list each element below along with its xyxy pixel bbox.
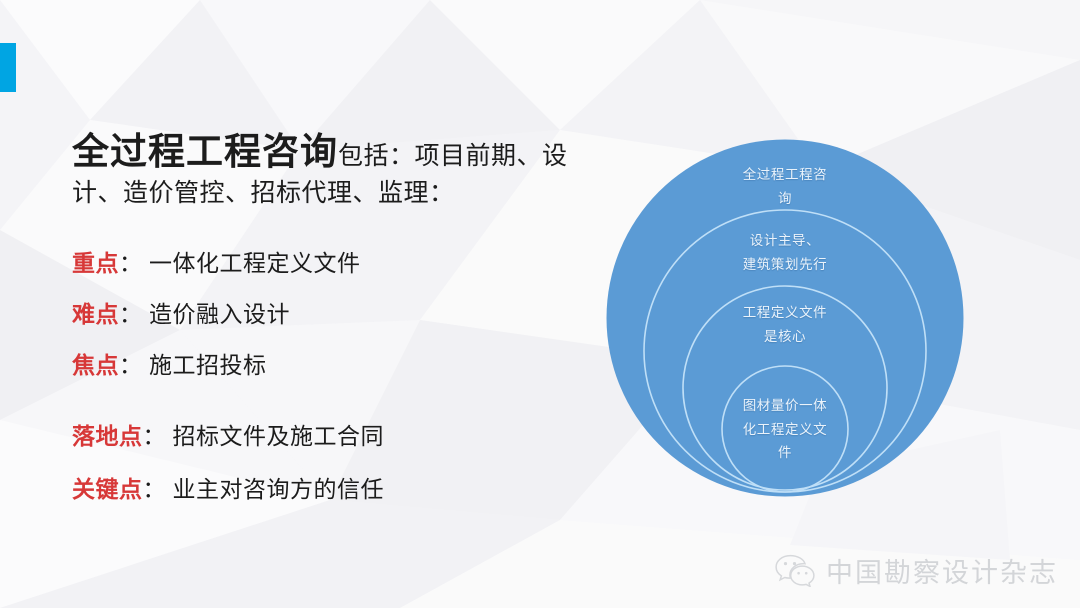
list-item: 关键点 ： 业主对咨询方的信任 — [72, 478, 572, 501]
bullet-colon: ： — [119, 303, 142, 326]
nested-circles-svg — [606, 139, 964, 497]
watermark-label: 中国勘察设计杂志 — [826, 551, 1058, 590]
nested-circles-diagram: 全过程工程咨询 设计主导、建筑策划先行 工程定义文件是核心 图材量价一体化工程定… — [606, 139, 964, 497]
bullet-colon: ： — [119, 354, 142, 377]
slide-canvas: 全过程工程咨询包括：项目前期、设计、造价管控、招标代理、监理： 重点 ： 一体化… — [0, 0, 1080, 608]
wechat-icon — [775, 554, 815, 587]
bullet-key: 重点 — [72, 252, 119, 275]
title-emphasis: 全过程工程咨询 — [72, 131, 338, 172]
list-item: 重点 ： 一体化工程定义文件 — [72, 252, 572, 275]
bullet-value: 招标文件及施工合同 — [173, 425, 385, 448]
bullet-colon: ： — [143, 425, 166, 448]
list-item: 难点 ： 造价融入设计 — [72, 303, 572, 326]
content-column: 全过程工程咨询包括：项目前期、设计、造价管控、招标代理、监理： 重点 ： 一体化… — [72, 128, 572, 531]
list-item: 焦点 ： 施工招投标 — [72, 354, 572, 377]
watermark: 中国勘察设计杂志 — [775, 551, 1058, 590]
accent-bar — [0, 43, 16, 92]
list-item: 落地点 ： 招标文件及施工合同 — [72, 425, 572, 448]
page-title: 全过程工程咨询包括：项目前期、设计、造价管控、招标代理、监理： — [72, 128, 572, 210]
bullet-value: 业主对咨询方的信任 — [173, 478, 385, 501]
bullet-list-lower: 落地点 ： 招标文件及施工合同 关键点 ： 业主对咨询方的信任 — [72, 425, 572, 501]
bullet-colon: ： — [119, 252, 142, 275]
bullet-list-upper: 重点 ： 一体化工程定义文件 难点 ： 造价融入设计 焦点 ： 施工招投标 — [72, 252, 572, 377]
bullet-value: 一体化工程定义文件 — [149, 252, 361, 275]
bullet-key: 关键点 — [72, 478, 143, 501]
bullet-key: 难点 — [72, 303, 119, 326]
ring-outer-shape — [607, 140, 964, 497]
bullet-key: 焦点 — [72, 354, 119, 377]
bullet-colon: ： — [143, 478, 166, 501]
bullet-value: 造价融入设计 — [149, 303, 290, 326]
bullet-value: 施工招投标 — [149, 354, 267, 377]
bullet-key: 落地点 — [72, 425, 143, 448]
